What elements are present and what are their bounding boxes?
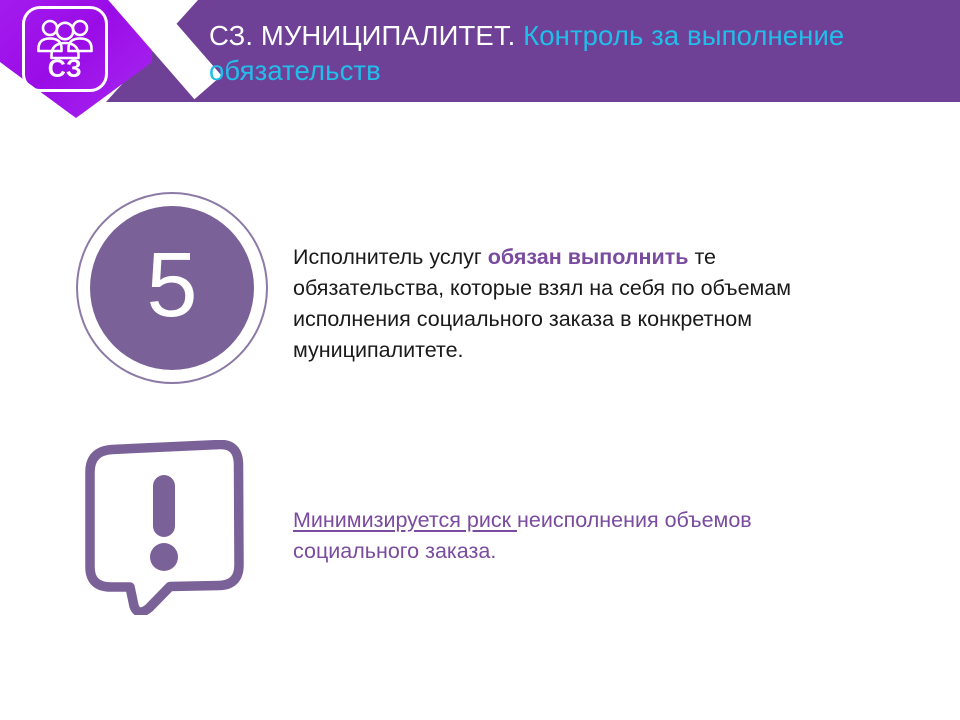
alert-note-text: Минимизируется риск неисполнения объемов… [293,505,753,567]
alert-note-underlined: Минимизируется риск [293,508,517,532]
point-number-disc: 5 [90,206,254,370]
page-title-primary: СЗ. МУНИЦИПАЛИТЕТ. [209,20,515,51]
slide-canvas: СЗ СЗ. МУНИЦИПАЛИТЕТ. Контроль за выполн… [0,0,960,720]
point-body-text: Исполнитель услуг обязан выполнить те об… [293,242,833,366]
point-number-badge: 5 [76,192,268,384]
logo-badge: СЗ [22,6,108,92]
point-body-emphasis: обязан выполнить [488,245,689,269]
logo-badge-label: СЗ [25,57,105,82]
exclamation-speech-bubble-icon [78,440,248,615]
page-title: СЗ. МУНИЦИПАЛИТЕТ. Контроль за выполнени… [209,18,909,88]
point-body-lead: Исполнитель услуг [293,245,488,269]
point-number-value: 5 [146,239,197,331]
